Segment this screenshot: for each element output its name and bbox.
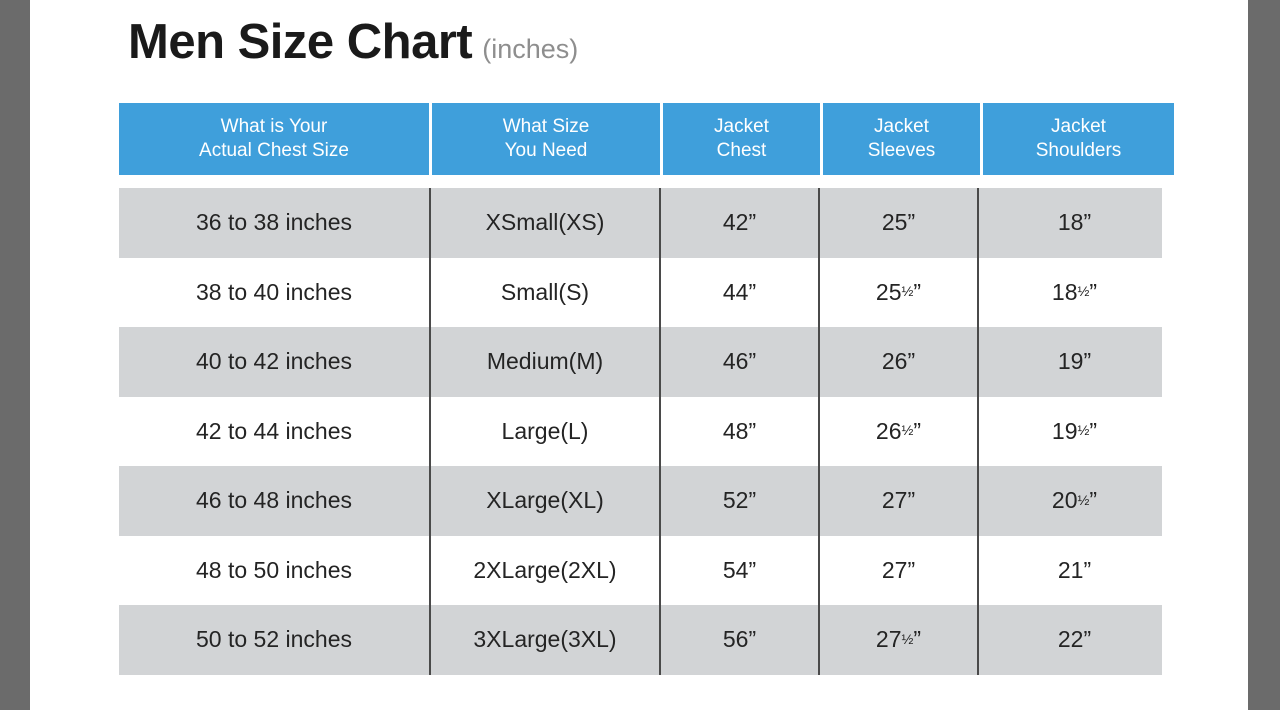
page-title-main: Men Size Chart bbox=[128, 18, 472, 67]
column-header-jacket-chest: Jacket Chest bbox=[660, 103, 820, 175]
cell-jacket-chest: 46” bbox=[659, 327, 818, 397]
cell-jacket-chest: 56” bbox=[659, 605, 818, 675]
fraction-glyph: ½ bbox=[1078, 284, 1090, 300]
cell-jacket-sleeves: 27½” bbox=[818, 605, 977, 675]
fraction-glyph: ½ bbox=[902, 423, 914, 439]
slide-canvas: Men Size Chart (inches) What is Your Act… bbox=[30, 0, 1248, 710]
fraction-glyph: ½ bbox=[902, 632, 914, 648]
column-header-line1: What is Your bbox=[221, 115, 328, 139]
column-header-line1: Jacket bbox=[1051, 115, 1106, 139]
cell-jacket-shoulders: 19½” bbox=[977, 397, 1170, 467]
letterbox-bar-left bbox=[0, 0, 30, 710]
cell-jacket-shoulders: 21” bbox=[977, 536, 1170, 606]
cell-jacket-chest: 42” bbox=[659, 188, 818, 258]
cell-actual-chest-size: 38 to 40 inches bbox=[119, 258, 429, 328]
cell-jacket-shoulders: 22” bbox=[977, 605, 1170, 675]
cell-actual-chest-size: 40 to 42 inches bbox=[119, 327, 429, 397]
column-header-line1: Jacket bbox=[874, 115, 929, 139]
table-row: 36 to 38 inchesXSmall(XS)42”25”18” bbox=[119, 188, 1162, 258]
cell-jacket-chest: 48” bbox=[659, 397, 818, 467]
cell-jacket-shoulders: 19” bbox=[977, 327, 1170, 397]
cell-jacket-sleeves: 27” bbox=[818, 466, 977, 536]
cell-actual-chest-size: 46 to 48 inches bbox=[119, 466, 429, 536]
column-header-line2: Shoulders bbox=[1036, 139, 1122, 163]
column-header-line2: Sleeves bbox=[868, 139, 936, 163]
cell-size-you-need: Small(S) bbox=[429, 258, 659, 328]
table-row: 40 to 42 inchesMedium(M)46”26”19” bbox=[119, 327, 1162, 397]
column-header-line1: Jacket bbox=[714, 115, 769, 139]
table-header-row: What is Your Actual Chest Size What Size… bbox=[119, 103, 1162, 175]
column-header-line2: Actual Chest Size bbox=[199, 139, 349, 163]
cell-size-you-need: XLarge(XL) bbox=[429, 466, 659, 536]
table-row: 42 to 44 inchesLarge(L)48”26½”19½” bbox=[119, 397, 1162, 467]
cell-jacket-sleeves: 27” bbox=[818, 536, 977, 606]
cell-jacket-sleeves: 25” bbox=[818, 188, 977, 258]
cell-size-you-need: Medium(M) bbox=[429, 327, 659, 397]
cell-size-you-need: 2XLarge(2XL) bbox=[429, 536, 659, 606]
cell-jacket-shoulders: 18½” bbox=[977, 258, 1170, 328]
column-header-actual-chest-size: What is Your Actual Chest Size bbox=[119, 103, 429, 175]
column-header-line2: You Need bbox=[505, 139, 588, 163]
table-row: 38 to 40 inchesSmall(S)44”25½”18½” bbox=[119, 258, 1162, 328]
page-title-units: (inches) bbox=[482, 36, 578, 63]
cell-jacket-shoulders: 20½” bbox=[977, 466, 1170, 536]
column-header-line2: Chest bbox=[717, 139, 767, 163]
table-row: 46 to 48 inchesXLarge(XL)52”27”20½” bbox=[119, 466, 1162, 536]
column-header-line1: What Size bbox=[503, 115, 590, 139]
cell-actual-chest-size: 42 to 44 inches bbox=[119, 397, 429, 467]
table-body: 36 to 38 inchesXSmall(XS)42”25”18”38 to … bbox=[119, 188, 1162, 675]
cell-jacket-chest: 52” bbox=[659, 466, 818, 536]
header-body-spacer bbox=[119, 175, 1162, 188]
table-row: 48 to 50 inches2XLarge(2XL)54”27”21” bbox=[119, 536, 1162, 606]
fraction-glyph: ½ bbox=[1078, 493, 1090, 509]
cell-size-you-need: XSmall(XS) bbox=[429, 188, 659, 258]
cell-jacket-chest: 54” bbox=[659, 536, 818, 606]
cell-jacket-sleeves: 26½” bbox=[818, 397, 977, 467]
cell-size-you-need: 3XLarge(3XL) bbox=[429, 605, 659, 675]
column-header-jacket-sleeves: Jacket Sleeves bbox=[820, 103, 980, 175]
cell-size-you-need: Large(L) bbox=[429, 397, 659, 467]
cell-jacket-sleeves: 25½” bbox=[818, 258, 977, 328]
fraction-glyph: ½ bbox=[1078, 423, 1090, 439]
cell-actual-chest-size: 48 to 50 inches bbox=[119, 536, 429, 606]
cell-jacket-sleeves: 26” bbox=[818, 327, 977, 397]
column-header-jacket-shoulders: Jacket Shoulders bbox=[980, 103, 1174, 175]
cell-actual-chest-size: 50 to 52 inches bbox=[119, 605, 429, 675]
cell-actual-chest-size: 36 to 38 inches bbox=[119, 188, 429, 258]
cell-jacket-shoulders: 18” bbox=[977, 188, 1170, 258]
fraction-glyph: ½ bbox=[902, 284, 914, 300]
letterbox-bar-right bbox=[1248, 0, 1280, 710]
screenshot-root: Men Size Chart (inches) What is Your Act… bbox=[0, 0, 1280, 710]
table-row: 50 to 52 inches3XLarge(3XL)56”27½”22” bbox=[119, 605, 1162, 675]
page-title: Men Size Chart (inches) bbox=[128, 18, 578, 67]
cell-jacket-chest: 44” bbox=[659, 258, 818, 328]
size-chart-table: What is Your Actual Chest Size What Size… bbox=[119, 103, 1162, 675]
column-header-size-you-need: What Size You Need bbox=[429, 103, 660, 175]
